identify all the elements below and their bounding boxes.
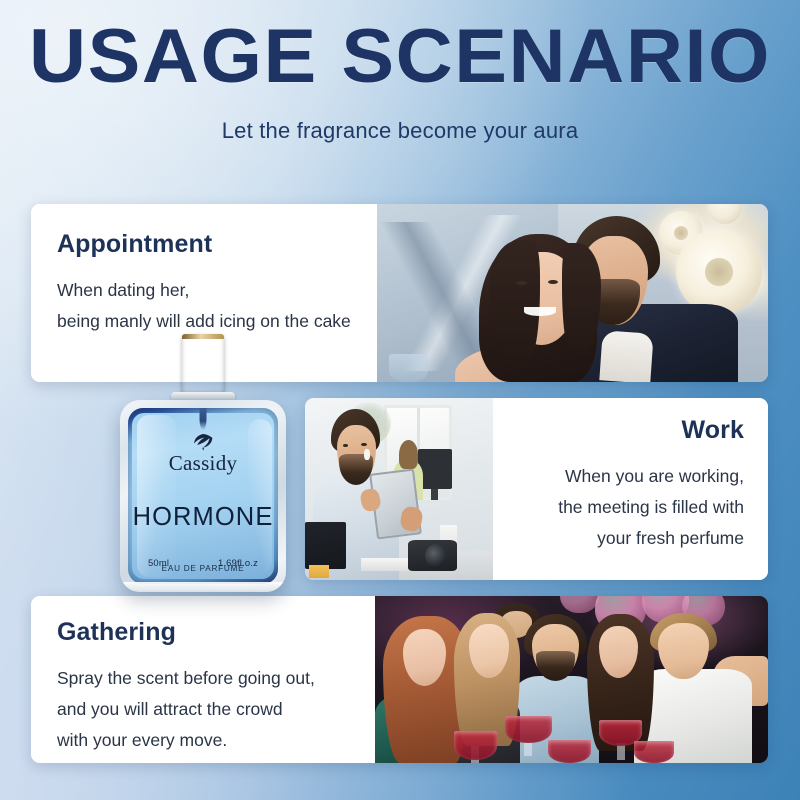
bottle-gold-cap — [182, 334, 224, 396]
card-text-gathering: Gathering Spray the scent before going o… — [31, 596, 375, 763]
card-body-work: When you are working, the meeting is fil… — [511, 461, 744, 554]
scenario-card-work: Work When you are working, the meeting i… — [305, 398, 768, 580]
card-body-appointment: When dating her, being manly will add ic… — [57, 275, 351, 337]
card-line: your fresh perfume — [511, 523, 744, 554]
card-body-gathering: Spray the scent before going out, and yo… — [57, 663, 349, 756]
party-group-photo — [375, 596, 768, 763]
page-title: USAGE SCENARIO — [0, 18, 800, 96]
cassidy-leaf-logo — [190, 432, 216, 452]
card-line: being manly will add icing on the cake — [57, 306, 351, 337]
card-title-gathering: Gathering — [57, 618, 349, 647]
bottle-volume-row: 50ml 1.69fl.o.z — [148, 557, 258, 568]
card-line: Spray the scent before going out, — [57, 663, 349, 694]
card-title-work: Work — [511, 416, 744, 445]
usage-scenario-poster: USAGE SCENARIO Let the fragrance become … — [0, 0, 800, 800]
scenario-card-gathering: Gathering Spray the scent before going o… — [31, 596, 768, 763]
bottle-nozzle-tube — [200, 408, 207, 430]
bottle-brand-name: Cassidy — [128, 453, 278, 474]
bottle-base — [123, 582, 283, 592]
card-line: When dating her, — [57, 275, 351, 306]
perfume-bottle: Cassidy HORMONE EAU DE PARFUME 50ml 1.69… — [120, 334, 286, 592]
bottle-label: Cassidy HORMONE EAU DE PARFUME — [128, 432, 278, 573]
couple-dating-photo — [377, 204, 768, 382]
card-line: the meeting is filled with — [511, 492, 744, 523]
bottle-volume-ml: 50ml — [148, 557, 169, 568]
card-text-work: Work When you are working, the meeting i… — [493, 398, 768, 580]
card-title-appointment: Appointment — [57, 230, 351, 259]
bottle-glass-body: Cassidy HORMONE EAU DE PARFUME 50ml 1.69… — [120, 400, 286, 592]
card-line: and you will attract the crowd — [57, 694, 349, 725]
bottle-product-name: HORMONE — [128, 503, 278, 532]
card-line: with your every move. — [57, 725, 349, 756]
card-line: When you are working, — [511, 461, 744, 492]
bottle-volume-oz: 1.69fl.o.z — [218, 557, 258, 568]
page-subtitle: Let the fragrance become your aura — [0, 118, 800, 144]
man-working-tablet-photo — [305, 398, 493, 580]
